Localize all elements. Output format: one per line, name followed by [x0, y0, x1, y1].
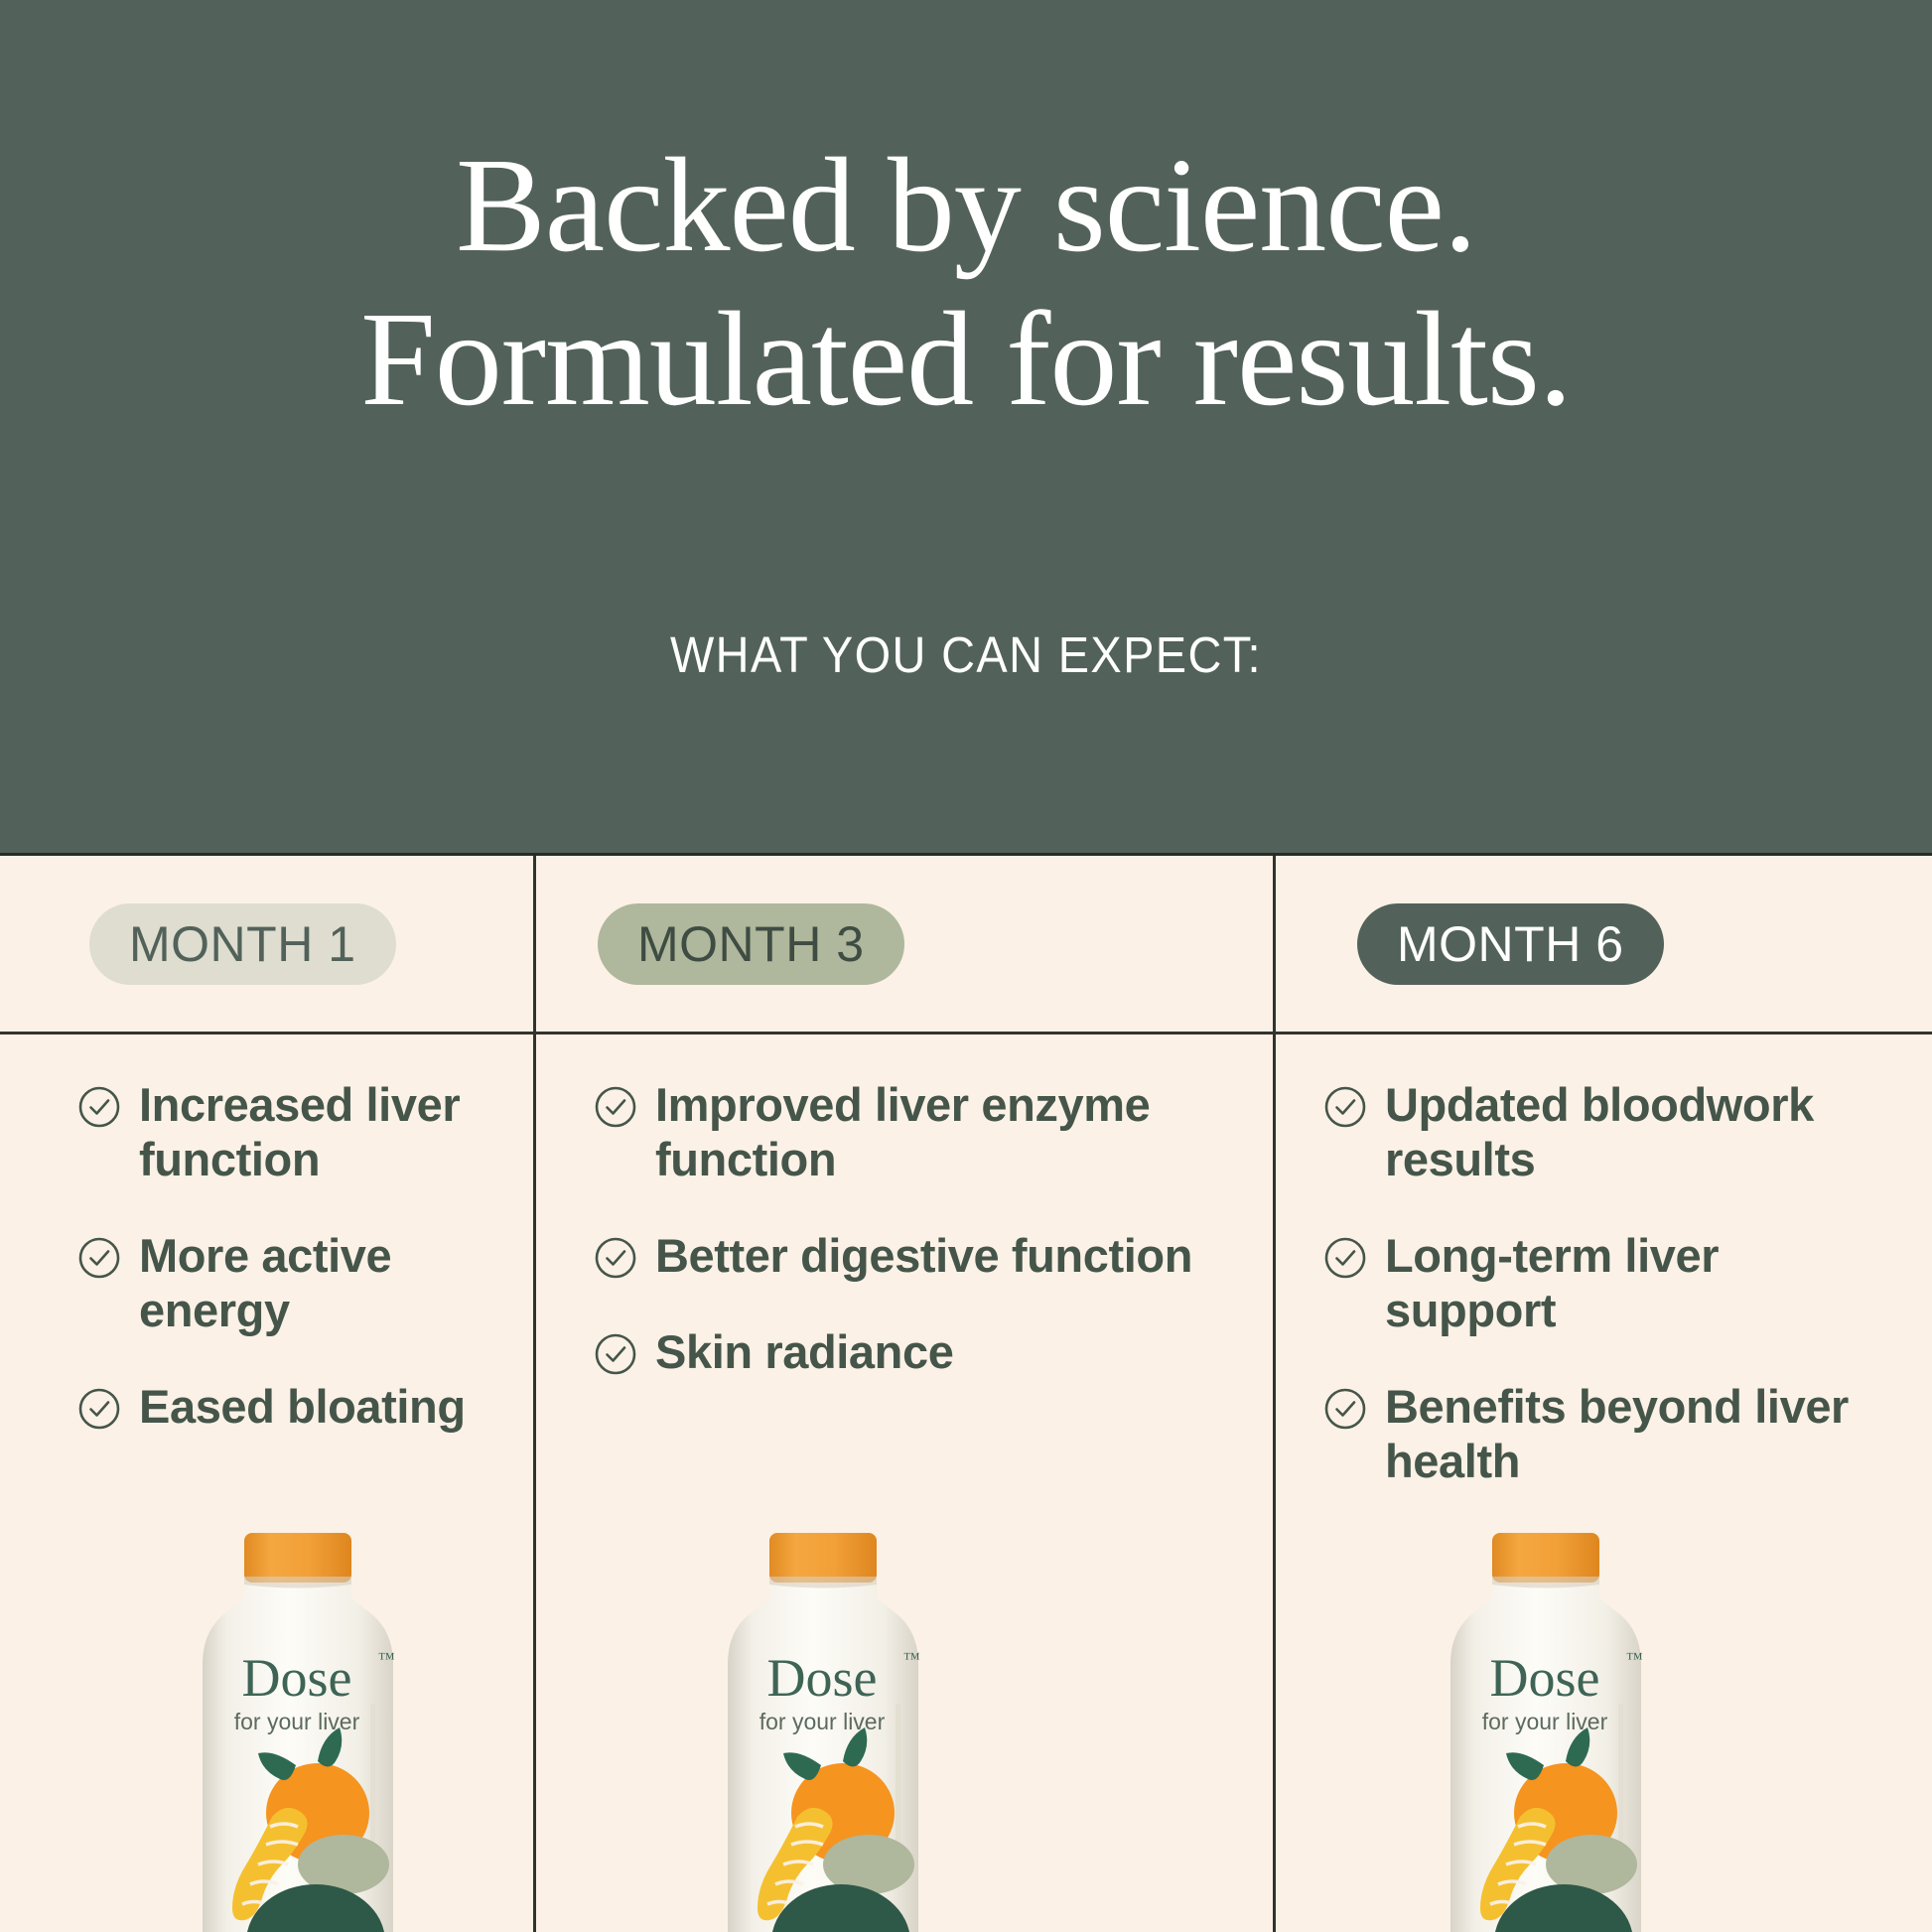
- brand-tagline: for your liver: [759, 1709, 886, 1734]
- timeline-grid: MONTH 1 Increased liver function More ac…: [0, 856, 1932, 1932]
- badge-row: MONTH 6: [1276, 856, 1932, 1035]
- list-item-label: Updated bloodwork results: [1385, 1078, 1896, 1187]
- page-title: Backed by science. Formulated for result…: [0, 129, 1932, 437]
- headline-line-2: Formulated for results.: [0, 283, 1932, 437]
- infographic-page: Backed by science. Formulated for result…: [0, 0, 1932, 1932]
- brand-name: Dose: [1490, 1648, 1600, 1708]
- svg-text:™: ™: [903, 1649, 920, 1668]
- list-item: Long-term liver support: [1323, 1229, 1896, 1338]
- product-image-area: Dose ™ for your liver: [1276, 1515, 1932, 1932]
- list-item: Benefits beyond liver health: [1323, 1380, 1896, 1489]
- product-bottle: Dose ™ for your liver: [1415, 1515, 1675, 1932]
- brand-tagline: for your liver: [1482, 1709, 1608, 1734]
- list-item: Increased liver function: [77, 1078, 503, 1187]
- list-item-label: Skin radiance: [655, 1325, 953, 1380]
- badge-row: MONTH 3: [536, 856, 1273, 1035]
- check-circle-icon: [594, 1332, 637, 1376]
- headline-line-1: Backed by science.: [456, 131, 1476, 280]
- status-badge-month-3[interactable]: MONTH 3: [598, 903, 904, 985]
- list-item: Better digestive function: [594, 1229, 1233, 1284]
- benefit-list-month-6: Updated bloodwork results Long-term live…: [1276, 1035, 1932, 1489]
- timeline-column-month-1: MONTH 1 Increased liver function More ac…: [0, 856, 533, 1932]
- eyebrow-label: WHAT YOU CAN EXPECT:: [77, 625, 1855, 684]
- status-badge-month-1[interactable]: MONTH 1: [89, 903, 396, 985]
- check-circle-icon: [77, 1085, 121, 1129]
- list-item-label: More active energy: [139, 1229, 503, 1338]
- list-item: Skin radiance: [594, 1325, 1233, 1380]
- product-bottle: Dose ™ for your liver: [167, 1515, 427, 1932]
- list-item-label: Long-term liver support: [1385, 1229, 1896, 1338]
- svg-text:™: ™: [378, 1649, 395, 1668]
- check-circle-icon: [77, 1387, 121, 1431]
- list-item-label: Benefits beyond liver health: [1385, 1380, 1896, 1489]
- benefit-list-month-3: Improved liver enzyme function Better di…: [536, 1035, 1273, 1380]
- list-item: More active energy: [77, 1229, 503, 1338]
- status-badge-month-6[interactable]: MONTH 6: [1357, 903, 1664, 985]
- check-circle-icon: [1323, 1085, 1367, 1129]
- list-item-label: Better digestive function: [655, 1229, 1192, 1284]
- brand-name: Dose: [242, 1648, 352, 1708]
- check-circle-icon: [594, 1236, 637, 1280]
- timeline-column-month-3: MONTH 3 Improved liver enzyme function B…: [533, 856, 1273, 1932]
- list-item: Eased bloating: [77, 1380, 503, 1435]
- svg-text:™: ™: [1626, 1649, 1643, 1668]
- list-item: Improved liver enzyme function: [594, 1078, 1233, 1187]
- timeline-column-month-6: MONTH 6 Updated bloodwork results Long-t…: [1273, 856, 1932, 1932]
- product-image-area: Dose ™ for your liver: [536, 1515, 1273, 1932]
- check-circle-icon: [594, 1085, 637, 1129]
- check-circle-icon: [77, 1236, 121, 1280]
- brand-tagline: for your liver: [234, 1709, 360, 1734]
- hero-section: Backed by science. Formulated for result…: [0, 0, 1932, 856]
- check-circle-icon: [1323, 1236, 1367, 1280]
- list-item: Updated bloodwork results: [1323, 1078, 1896, 1187]
- check-circle-icon: [1323, 1387, 1367, 1431]
- product-bottle: Dose ™ for your liver: [692, 1515, 952, 1932]
- brand-name: Dose: [767, 1648, 878, 1708]
- list-item-label: Increased liver function: [139, 1078, 503, 1187]
- product-image-area: Dose ™ for your liver: [0, 1515, 533, 1932]
- badge-row: MONTH 1: [0, 856, 533, 1035]
- list-item-label: Improved liver enzyme function: [655, 1078, 1233, 1187]
- list-item-label: Eased bloating: [139, 1380, 466, 1435]
- benefit-list-month-1: Increased liver function More active ene…: [0, 1035, 533, 1435]
